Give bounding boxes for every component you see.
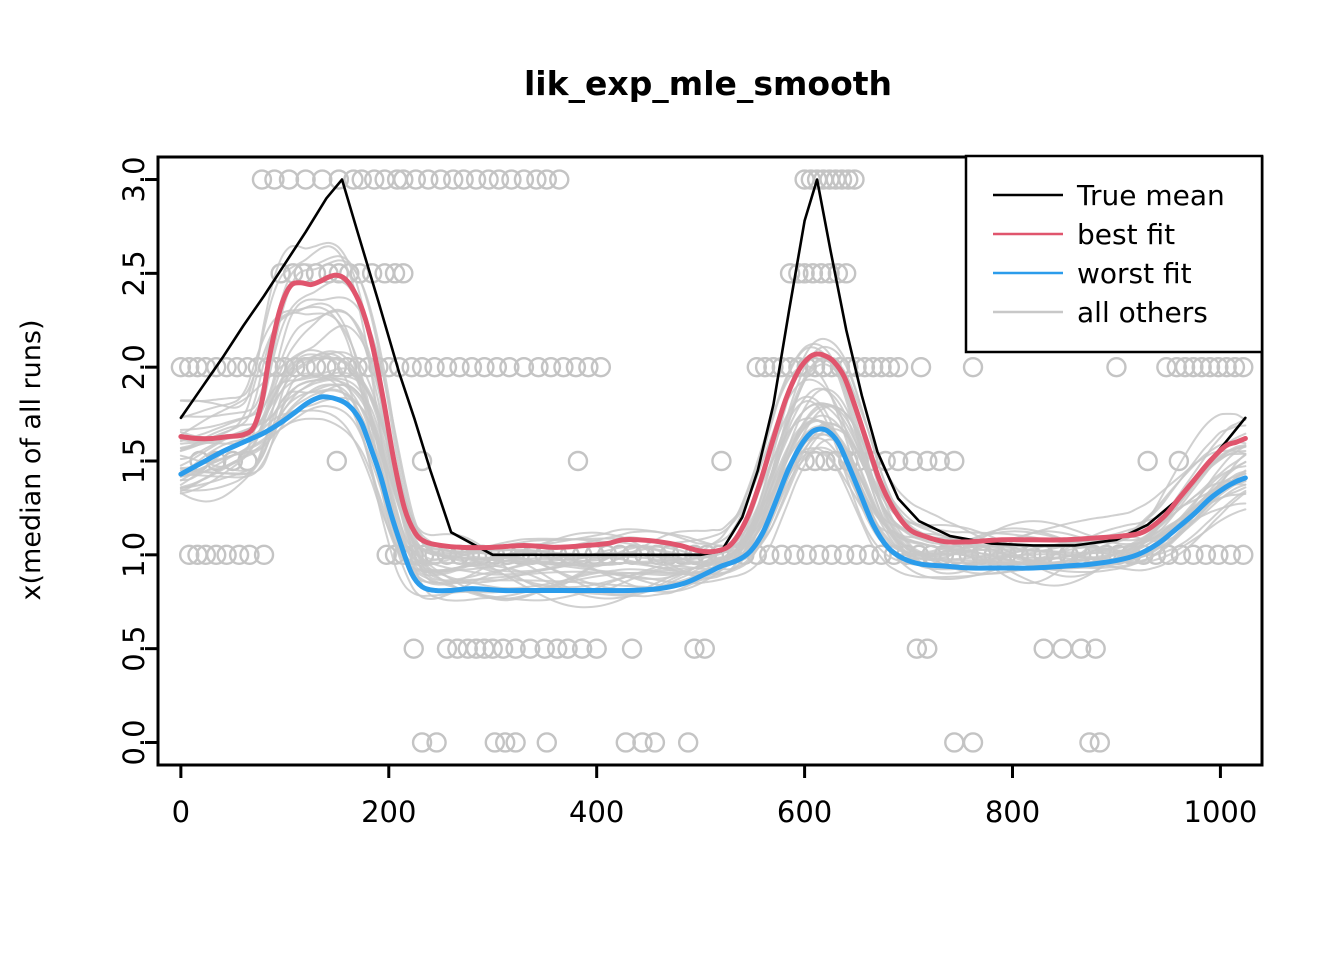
legend-label: all others: [1077, 296, 1208, 329]
chart-title: lik_exp_mle_smooth: [524, 64, 892, 103]
legend-label: worst fit: [1077, 257, 1192, 290]
x-tick-label: 400: [569, 795, 624, 829]
figure-canvas: lik_exp_mle_smooth x(median of all runs)…: [0, 0, 1344, 960]
legend-label: True mean: [1076, 179, 1225, 212]
x-tick-label: 800: [985, 795, 1040, 829]
y-tick-label: 2.0: [117, 344, 151, 390]
y-axis-label: x(median of all runs): [16, 320, 47, 601]
x-tick-label: 0: [172, 795, 190, 829]
y-tick-label: 1.5: [117, 438, 151, 484]
y-tick-label: 1.0: [117, 532, 151, 578]
y-tick-label: 3.0: [117, 156, 151, 202]
legend: True meanbest fitworst fitall others: [966, 156, 1262, 352]
y-tick-label: 0.5: [117, 626, 151, 672]
x-tick-label: 600: [777, 795, 832, 829]
y-tick-label: 0.0: [117, 719, 151, 765]
x-tick-label: 1000: [1184, 795, 1258, 829]
x-tick-label: 200: [361, 795, 416, 829]
legend-label: best fit: [1077, 218, 1175, 251]
chart-plot: lik_exp_mle_smooth x(median of all runs)…: [0, 0, 1344, 960]
y-tick-label: 2.5: [117, 250, 151, 296]
